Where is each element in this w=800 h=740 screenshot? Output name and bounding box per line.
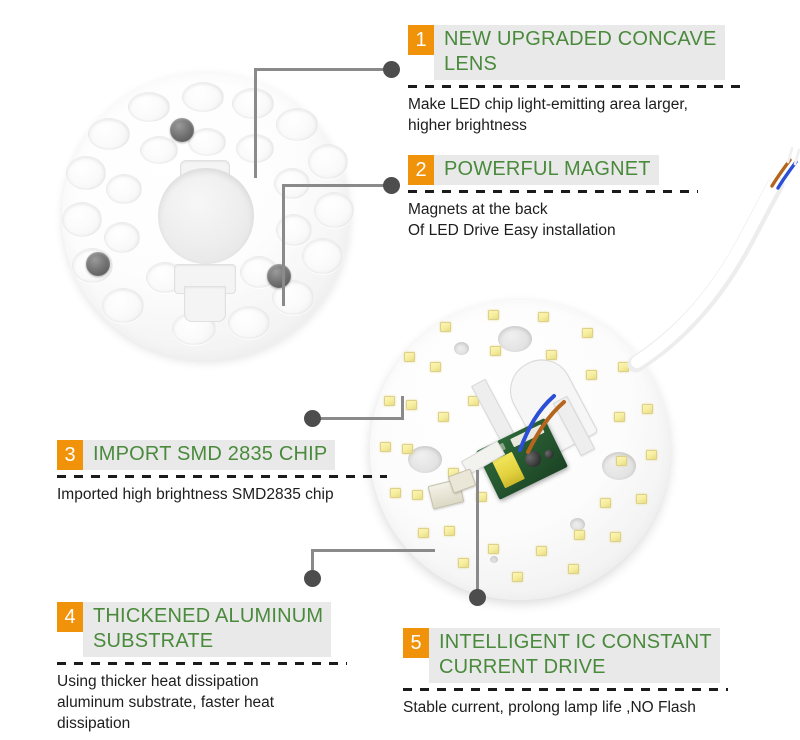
- callout-2-header: 2 POWERFUL MAGNET: [408, 155, 698, 185]
- callout-3-badge: 3: [57, 440, 83, 470]
- callout-1-body: Make LED chip light-emitting area larger…: [408, 94, 740, 136]
- callout-1-badge: 1: [408, 25, 434, 55]
- callout-4-body: Using thicker heat dissipation aluminum …: [57, 671, 347, 734]
- concave-lens: [228, 306, 270, 339]
- callout-4-header: 4 THICKENED ALUMINUM SUBSTRATE: [57, 602, 347, 657]
- callout-4-divider: [57, 662, 347, 665]
- callout-3-divider: [57, 475, 387, 478]
- callout-5-badge: 5: [403, 628, 429, 658]
- concave-lens: [102, 288, 144, 323]
- infographic-canvas: 1 NEW UPGRADED CONCAVE LENS Make LED chi…: [0, 0, 800, 740]
- concave-lens: [276, 108, 318, 141]
- lens-module-image: [62, 72, 350, 360]
- callout-5-header: 5 INTELLIGENT IC CONSTANT CURRENT DRIVE: [403, 628, 728, 683]
- magnet: [170, 118, 194, 142]
- callout-3-body: Imported high brightness SMD2835 chip: [57, 484, 387, 505]
- callout-1-divider: [408, 85, 740, 88]
- concave-lens: [62, 202, 102, 237]
- callout-2: 2 POWERFUL MAGNET Magnets at the back Of…: [408, 155, 698, 241]
- callout-1-header: 1 NEW UPGRADED CONCAVE LENS: [408, 25, 740, 80]
- concave-lens: [104, 222, 140, 253]
- callout-2-divider: [408, 190, 698, 193]
- callout-3-headline: IMPORT SMD 2835 CHIP: [83, 440, 335, 470]
- callout-5-headline: INTELLIGENT IC CONSTANT CURRENT DRIVE: [429, 628, 720, 683]
- concave-lens: [128, 92, 170, 122]
- concave-lens: [66, 156, 106, 190]
- concave-lens: [106, 174, 142, 204]
- callout-4-headline: THICKENED ALUMINUM SUBSTRATE: [83, 602, 331, 657]
- lens-center-lip: [180, 160, 230, 188]
- concave-lens: [88, 118, 130, 150]
- concave-lens: [232, 88, 274, 119]
- magnet: [86, 252, 110, 276]
- concave-lens: [140, 136, 178, 164]
- callout-2-badge: 2: [408, 155, 434, 185]
- driver-input-wires: [370, 300, 670, 600]
- callout-5-body: Stable current, prolong lamp life ,NO Fl…: [403, 697, 728, 718]
- callout-3-header: 3 IMPORT SMD 2835 CHIP: [57, 440, 387, 470]
- magnet: [267, 264, 291, 288]
- concave-lens: [182, 82, 224, 112]
- concave-lens: [302, 238, 343, 274]
- callout-5-divider: [403, 688, 728, 691]
- concave-lens: [308, 144, 348, 179]
- callout-3: 3 IMPORT SMD 2835 CHIP Imported high bri…: [57, 440, 387, 505]
- callout-2-body: Magnets at the back Of LED Drive Easy in…: [408, 199, 698, 241]
- terminal-clip-tail: [184, 286, 226, 322]
- callout-1-headline: NEW UPGRADED CONCAVE LENS: [434, 25, 725, 80]
- concave-lens: [314, 192, 354, 228]
- callout-2-headline: POWERFUL MAGNET: [434, 155, 659, 185]
- callout-4: 4 THICKENED ALUMINUM SUBSTRATE Using thi…: [57, 602, 347, 734]
- pcb-module-image: [370, 300, 670, 600]
- callout-4-badge: 4: [57, 602, 83, 632]
- callout-5: 5 INTELLIGENT IC CONSTANT CURRENT DRIVE …: [403, 628, 728, 718]
- callout-1: 1 NEW UPGRADED CONCAVE LENS Make LED chi…: [408, 25, 740, 136]
